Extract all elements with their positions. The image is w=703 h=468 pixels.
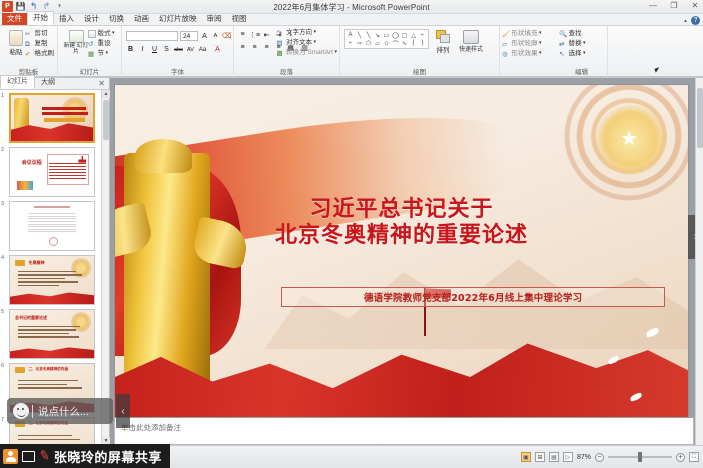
change-case-button[interactable]: Aa: [198, 45, 207, 54]
ribbon-body: 粘贴 ✂ 剪切 ⧉ 复制 ✔ 格式刷 剪贴板: [0, 26, 703, 77]
select-button[interactable]: ↖ 选择▾: [559, 49, 586, 58]
numbering-icon[interactable]: ⋮≡: [250, 30, 259, 39]
scissors-icon: ✂: [25, 30, 33, 38]
shrink-font-icon[interactable]: A: [211, 32, 220, 41]
smartart-icon: ▩: [277, 49, 285, 57]
cut-button[interactable]: ✂ 剪切: [25, 29, 54, 38]
participant-icon: [3, 449, 18, 464]
copy-label: 复制: [35, 39, 48, 48]
new-slide-button[interactable]: 新建 幻灯片: [63, 30, 89, 55]
tab-slides[interactable]: 幻灯片: [0, 75, 35, 89]
shape-rect-icon[interactable]: ▭: [382, 31, 391, 39]
shape-triangle-icon[interactable]: △: [409, 31, 418, 39]
shape-elbow-icon[interactable]: ⌐: [346, 39, 355, 47]
shape-effects-label: 形状效果: [512, 49, 538, 58]
thumbnail-number: 7: [1, 417, 4, 423]
layout-icon: [88, 30, 96, 38]
zoom-slider[interactable]: [608, 456, 672, 458]
slide-scrollbar[interactable]: [695, 78, 703, 445]
find-label: 查找: [569, 29, 582, 38]
text-direction-button[interactable]: ↷ 文字方向▾: [277, 28, 337, 37]
section-button[interactable]: ▦ 节▾: [88, 49, 115, 58]
thumbnail-heading: 会议议程: [22, 159, 42, 166]
align-center-icon[interactable]: ≡: [250, 43, 259, 52]
thumbnail-number: 6: [1, 363, 4, 369]
shape-textbox-icon[interactable]: A: [346, 31, 355, 39]
reading-view-button[interactable]: ▤: [549, 452, 559, 462]
reset-button[interactable]: ↺ 重设: [88, 39, 115, 48]
shape-freeform-icon[interactable]: ∿: [400, 39, 409, 47]
underline-button[interactable]: U: [150, 45, 159, 54]
select-label: 选择: [569, 49, 582, 58]
tab-animations[interactable]: 动画: [129, 13, 154, 25]
tab-slideshow[interactable]: 幻灯片放映: [154, 13, 202, 25]
zoom-level-label: 87%: [577, 454, 591, 461]
align-text-label: 对齐文本: [286, 38, 312, 47]
tab-design[interactable]: 设计: [79, 13, 104, 25]
decrease-indent-icon[interactable]: ⇤: [262, 30, 271, 39]
window-title: 2022年6月集体学习 - Microsoft PowerPoint: [0, 2, 703, 13]
thumbnail-heading: 冬奥精神: [28, 260, 44, 266]
thumbnail-scrollbar[interactable]: ▲ ▼: [101, 90, 109, 445]
ribbon-group-editing: 🔍 查找 ⇄ 替换▾ ↖ 选择▾ 编辑: [556, 26, 608, 77]
title-bar: P 💾 ↰ ↱ ▾ 2022年6月集体学习 - Microsoft PowerP…: [0, 0, 703, 14]
shape-connector-icon[interactable]: ⌐: [418, 31, 427, 39]
clear-formatting-icon[interactable]: ⌫: [222, 32, 231, 41]
close-pane-icon[interactable]: ✕: [98, 78, 109, 89]
find-icon: 🔍: [559, 30, 567, 38]
shape-brace-right-icon[interactable]: }: [418, 39, 427, 47]
shape-pentagon-icon[interactable]: ⬠: [364, 39, 373, 47]
align-text-icon: ▤: [277, 39, 285, 47]
shape-callout-icon[interactable]: ▱: [373, 39, 382, 47]
section-label: 节: [98, 49, 105, 58]
grow-font-icon[interactable]: A: [200, 32, 209, 41]
ribbon-tab-strip: 文件 开始 插入 设计 切换 动画 幻灯片放映 审阅 视图 ▲ ?: [0, 14, 703, 26]
font-name-input[interactable]: [126, 31, 178, 41]
shape-curve-icon[interactable]: ⌒: [391, 39, 400, 47]
replace-button[interactable]: ⇄ 替换▾: [559, 39, 586, 48]
thumbnail-number: 2: [1, 147, 4, 153]
thumbnail-slide-1[interactable]: [9, 93, 95, 143]
cut-label: 剪切: [35, 29, 48, 38]
shape-outline-button[interactable]: ▱ 形状轮廓▾: [502, 39, 542, 48]
emoji-icon[interactable]: [13, 403, 29, 419]
powerpoint-window: P 💾 ↰ ↱ ▾ 2022年6月集体学习 - Microsoft PowerP…: [0, 0, 703, 468]
ribbon-group-paragraph: ≡ ⋮≡ ⇤ ⇥ ↕ ≡ ≡ ≡ ≡ ▦ ▥ ↷ 文字方向: [234, 26, 340, 77]
collapse-chat-button[interactable]: ‹: [116, 394, 130, 428]
list-item[interactable]: 1: [9, 93, 99, 143]
slide-thumbnail-pane: 幻灯片 大纲 ✕ 1: [0, 78, 110, 445]
annotate-pen-icon[interactable]: ✎: [37, 447, 51, 465]
shape-fill-icon: 🖌: [502, 30, 510, 38]
normal-view-button[interactable]: ▣: [521, 452, 531, 462]
thumbnail-number: 3: [1, 201, 4, 207]
bold-button[interactable]: B: [126, 45, 135, 54]
shadow-button[interactable]: S: [162, 45, 171, 54]
group-label-slides: 幻灯片: [58, 69, 121, 77]
paste-label: 粘贴: [10, 46, 23, 56]
tab-home[interactable]: 开始: [27, 11, 54, 25]
thumbnail-slide-3[interactable]: [9, 201, 95, 251]
slide-title-line-1: 习近平总书记关于: [115, 197, 688, 223]
star-icon: ★: [620, 129, 638, 149]
monitor-icon[interactable]: [22, 451, 35, 462]
slide-subtitle: 德语学院教师党支部2022年6月线上集中理论学习: [364, 290, 582, 304]
mouse-cursor: [654, 67, 660, 72]
tab-file[interactable]: 文件: [2, 13, 27, 25]
close-button[interactable]: ✕: [689, 1, 701, 10]
font-color-button[interactable]: A: [213, 45, 222, 54]
shape-star-icon[interactable]: ✩: [382, 39, 391, 47]
ribbon-group-drawing: A ╲ ╲ ↘ ▭ ◯ ▢ △ ⌐ ⌐ ⇨ ⬠ ▱ ✩ ⌒ ∿ {: [340, 26, 500, 77]
help-icon[interactable]: ?: [691, 16, 700, 25]
format-painter-label: 格式刷: [35, 49, 55, 58]
italic-button[interactable]: I: [138, 45, 147, 54]
screen-share-bar[interactable]: ✎ 张晓玲的屏幕共享: [0, 444, 170, 468]
thumbnail-heading: 总书记的重要论述: [15, 315, 47, 321]
thumbnail-number: 1: [1, 93, 4, 99]
slide-subtitle-box[interactable]: 德语学院教师党支部2022年6月线上集中理论学习: [281, 287, 665, 307]
shape-brace-left-icon[interactable]: {: [409, 39, 418, 47]
collapse-ribbon-icon[interactable]: ▲: [683, 18, 688, 24]
slide-title-line-2: 北京冬奥精神的重要论述: [115, 223, 688, 249]
share-label: 张晓玲的屏幕共享: [54, 447, 162, 466]
slideshow-button[interactable]: ▷: [563, 452, 573, 462]
decorative-pillar-head: [135, 139, 192, 173]
thumbnail-heading: 二、北京冬奥精神的内涵: [28, 367, 68, 372]
thumbnail-slide-2[interactable]: 会议议程: [9, 147, 95, 197]
thumbnail-list[interactable]: 1 2 会议议程: [0, 90, 101, 445]
ribbon-group-slides: 新建 幻灯片 版式▾ ↺ 重设 ▦ 节▾: [58, 26, 122, 77]
tab-outline[interactable]: 大纲: [35, 77, 61, 89]
group-label-paragraph: 段落: [234, 69, 339, 77]
shape-line2-icon[interactable]: ╲: [364, 31, 373, 39]
zoom-out-button[interactable]: −: [595, 453, 604, 462]
scrollbar-thumb[interactable]: [697, 88, 703, 148]
tab-insert[interactable]: 插入: [54, 13, 79, 25]
fit-slide-button[interactable]: ⛶: [689, 452, 699, 462]
chat-placeholder: 说点什么...: [38, 404, 89, 419]
window-controls: — ❐ ✕: [647, 1, 701, 10]
zoom-slider-handle[interactable]: [638, 452, 642, 462]
font-size-input[interactable]: 24: [180, 31, 198, 41]
new-slide-label: 新建 幻灯片: [63, 43, 89, 55]
tab-view[interactable]: 视图: [227, 13, 252, 25]
shape-outline-icon: ▱: [502, 40, 510, 48]
list-item[interactable]: 2 会议议程: [9, 147, 99, 197]
minimize-button[interactable]: —: [647, 1, 659, 10]
shape-effects-icon: ◍: [502, 50, 510, 58]
current-slide[interactable]: ★ ★ ★ ★ ★ 习近平总书记关于 北京冬奥精神的重要论述: [114, 84, 689, 425]
align-text-button[interactable]: ▤ 对齐文本▾: [277, 38, 337, 47]
quick-styles-button[interactable]: 快速样式: [458, 30, 484, 53]
character-spacing-button[interactable]: AV: [186, 45, 195, 54]
layout-label: 版式: [98, 29, 111, 38]
replace-icon: ⇄: [559, 40, 567, 48]
shape-outline-label: 形状轮廓: [512, 39, 538, 48]
shape-fill-label: 形状填充: [512, 29, 538, 38]
chat-input-box[interactable]: 说点什么...: [7, 398, 113, 424]
replace-label: 替换: [569, 39, 582, 48]
copy-icon: ⧉: [25, 40, 33, 48]
thumbnail-number: 4: [1, 255, 4, 261]
layout-button[interactable]: 版式▾: [88, 29, 115, 38]
ribbon-group-shape-format: 🖌 形状填充▾ ▱ 形状轮廓▾ ◍ 形状效果▾: [500, 26, 556, 77]
arrange-label: 排列: [437, 44, 450, 54]
restore-button[interactable]: ❐: [668, 1, 680, 10]
thumbnail-number: 5: [1, 309, 4, 315]
copy-button[interactable]: ⧉ 复制: [25, 39, 54, 48]
strikethrough-button[interactable]: abc: [174, 45, 183, 54]
zoom-in-button[interactable]: +: [676, 453, 685, 462]
shape-arrow2-icon[interactable]: ⇨: [355, 39, 364, 47]
ribbon-group-clipboard: 粘贴 ✂ 剪切 ⧉ 复制 ✔ 格式刷 剪贴板: [0, 26, 58, 77]
shape-arrow-icon[interactable]: ↘: [373, 31, 382, 39]
group-label-editing: 编辑: [556, 69, 607, 77]
list-item[interactable]: 4 冬奥精神: [9, 255, 99, 305]
group-label-font: 字体: [122, 69, 233, 77]
notes-pane[interactable]: 单击此处添加备注: [114, 417, 694, 445]
shape-rounded-icon[interactable]: ▢: [400, 31, 409, 39]
smartart-label: 转换为 SmartArt: [286, 48, 333, 57]
shape-fill-button[interactable]: 🖌 形状填充▾: [502, 29, 542, 38]
group-label-drawing: 绘图: [340, 69, 499, 77]
slide-edit-area: ★ ★ ★ ★ ★ 习近平总书记关于 北京冬奥精神的重要论述: [110, 78, 703, 445]
reset-icon: ↺: [88, 40, 96, 48]
bullets-icon[interactable]: ≡: [238, 30, 247, 39]
status-right-cluster: ▣ ⊞ ▤ ▷ 87% − + ⛶: [521, 452, 703, 462]
slide-title[interactable]: 习近平总书记关于 北京冬奥精神的重要论述: [115, 197, 688, 249]
reset-label: 重设: [98, 39, 111, 48]
pane-tabs: 幻灯片 大纲 ✕: [0, 78, 109, 90]
shape-line-icon[interactable]: ╲: [355, 31, 364, 39]
notes-placeholder: 单击此处添加备注: [121, 423, 181, 432]
tab-review[interactable]: 审阅: [202, 13, 227, 25]
list-item[interactable]: 3: [9, 201, 99, 251]
list-item[interactable]: 5 总书记的重要论述: [9, 309, 99, 359]
format-painter-button[interactable]: ✔ 格式刷: [25, 49, 54, 58]
find-button[interactable]: 🔍 查找: [559, 29, 586, 38]
thumbnail-slide-5[interactable]: 总书记的重要论述: [9, 309, 95, 359]
tab-transitions[interactable]: 切换: [104, 13, 129, 25]
shapes-gallery[interactable]: A ╲ ╲ ↘ ▭ ◯ ▢ △ ⌐ ⌐ ⇨ ⬠ ▱ ✩ ⌒ ∿ {: [344, 29, 429, 49]
align-left-icon[interactable]: ≡: [238, 43, 247, 52]
convert-smartart-button[interactable]: ▩ 转换为 SmartArt▾: [277, 48, 337, 57]
align-right-icon[interactable]: ≡: [262, 43, 271, 52]
text-caret: [32, 405, 33, 418]
scroll-up-icon[interactable]: ▲: [102, 90, 110, 98]
text-direction-label: 文字方向: [286, 28, 312, 37]
slide-sorter-button[interactable]: ⊞: [535, 452, 545, 462]
ribbon-group-font: 24 A A ⌫ B I U S abc AV Aa A 字体: [122, 26, 234, 77]
shape-effects-button[interactable]: ◍ 形状效果▾: [502, 49, 542, 58]
scrollbar-thumb[interactable]: [103, 100, 109, 140]
section-icon: ▦: [88, 50, 96, 58]
select-icon: ↖: [559, 50, 567, 58]
format-painter-icon: ✔: [25, 50, 33, 58]
ribbon-help-area: ▲ ?: [683, 16, 700, 25]
arrange-button[interactable]: 排列: [430, 30, 456, 54]
thumbnail-slide-4[interactable]: 冬奥精神: [9, 255, 95, 305]
text-direction-icon: ↷: [277, 29, 285, 37]
quick-styles-label: 快速样式: [459, 44, 483, 53]
